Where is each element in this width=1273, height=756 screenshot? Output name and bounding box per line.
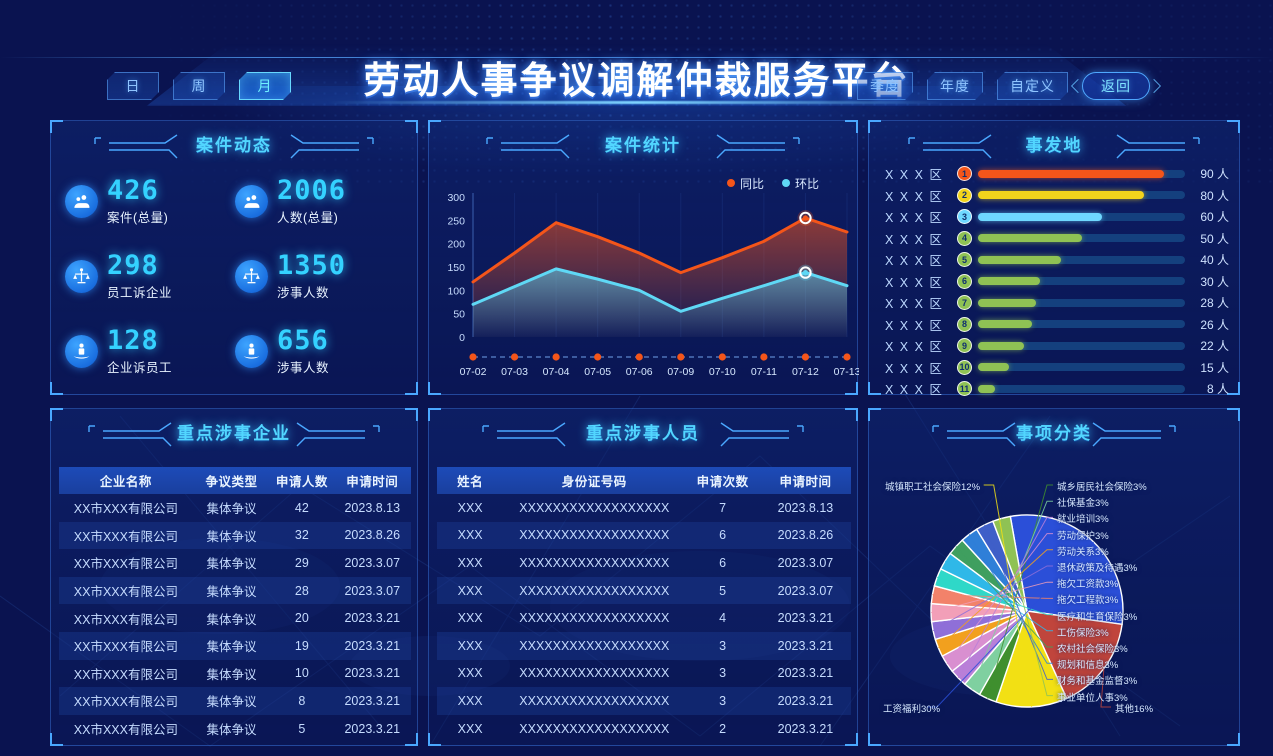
title-decor-left bbox=[93, 135, 179, 161]
svg-text:250: 250 bbox=[447, 215, 465, 227]
category-breakdown-panel: 事项分类 城乡居民社会保险3%社保基金3%就业培训3%劳动保护3%劳动关系3%退… bbox=[868, 408, 1240, 746]
rank-region-label: X X X 区 bbox=[885, 336, 957, 355]
svg-text:07-03: 07-03 bbox=[501, 366, 528, 378]
rank-bar-fill bbox=[978, 385, 995, 393]
rank-badge: 2 bbox=[957, 188, 972, 203]
svg-text:07-09: 07-09 bbox=[667, 366, 694, 378]
svg-text:200: 200 bbox=[447, 239, 465, 251]
rank-badge: 10 bbox=[957, 360, 972, 375]
pie-label: 劳动保护3% bbox=[1057, 528, 1109, 542]
incident-location-list: X X X 区190 人X X X 区280 人X X X 区360 人X X … bbox=[885, 163, 1229, 400]
table-row[interactable]: XXXXXXXXXXXXXXXXXXXXX32023.3.21 bbox=[437, 632, 851, 660]
rank-value: 28 人 bbox=[1185, 294, 1229, 311]
table-row[interactable]: XX市XXX有限公司集体争议322023.8.26 bbox=[59, 522, 411, 550]
table-row[interactable]: XXXXXXXXXXXXXXXXXXXXX62023.3.07 bbox=[437, 549, 851, 577]
pie-label: 其他16% bbox=[1115, 701, 1153, 715]
pie-label: 城乡居民社会保险3% bbox=[1057, 479, 1147, 493]
case-dynamics-panel: 案件动态 426 案件(总量) 2006 人数(总量) bbox=[50, 120, 418, 395]
rank-badge: 4 bbox=[957, 231, 972, 246]
table-row[interactable]: XX市XXX有限公司集体争议292023.3.07 bbox=[59, 549, 411, 577]
table-header-row: 企业名称争议类型申请人数申请时间 bbox=[59, 467, 411, 494]
pie-label: 农村社会保险3% bbox=[1057, 641, 1128, 655]
rank-bar-fill bbox=[978, 234, 1082, 242]
table-cell: 2 bbox=[685, 715, 760, 743]
rank-bar-fill bbox=[978, 299, 1036, 307]
table-cell: XX市XXX有限公司 bbox=[59, 660, 193, 688]
pie-label: 退休政策及待遇3% bbox=[1057, 560, 1137, 574]
kpi-label: 案件(总量) bbox=[107, 207, 168, 226]
table-row[interactable]: XXXXXXXXXXXXXXXXXXXXX62023.8.26 bbox=[437, 522, 851, 550]
rank-value: 90 人 bbox=[1185, 165, 1229, 182]
key-companies-table[interactable]: 企业名称争议类型申请人数申请时间 XX市XXX有限公司集体争议422023.8.… bbox=[59, 467, 411, 742]
kpi-label: 人数(总量) bbox=[277, 207, 346, 226]
table-cell: 集体争议 bbox=[193, 577, 270, 605]
pie-label: 工伤保险3% bbox=[1057, 625, 1109, 639]
table-cell: XXX bbox=[437, 549, 503, 577]
rank-row[interactable]: X X X 区728 人 bbox=[885, 292, 1229, 314]
kpi-total-cases[interactable]: 426 案件(总量) bbox=[65, 177, 235, 226]
table-column-header: 身份证号码 bbox=[503, 467, 685, 494]
incident-location-panel: 事发地 X X X 区190 人X X X 区280 人X X X 区360 人… bbox=[868, 120, 1240, 395]
svg-text:07-13: 07-13 bbox=[834, 366, 859, 378]
tab-day[interactable]: 日 bbox=[107, 72, 159, 100]
table-cell: 2023.8.13 bbox=[334, 494, 411, 522]
table-cell: 2023.8.26 bbox=[334, 522, 411, 550]
back-button-wrap: 返回 bbox=[1082, 72, 1150, 100]
rank-row[interactable]: X X X 区826 人 bbox=[885, 314, 1229, 336]
table-cell: 6 bbox=[685, 549, 760, 577]
svg-text:300: 300 bbox=[447, 192, 465, 204]
kpi-label: 员工诉企业 bbox=[107, 282, 172, 301]
table-cell: XXXXXXXXXXXXXXXXXX bbox=[503, 577, 685, 605]
rank-row[interactable]: X X X 区630 人 bbox=[885, 271, 1229, 293]
title-decor-right bbox=[715, 135, 801, 161]
title-decor-left bbox=[907, 135, 993, 161]
period-tabs-right: 季度 年度 自定义 返回 bbox=[857, 72, 1150, 100]
kpi-value: 426 bbox=[107, 177, 168, 204]
kpi-grid: 426 案件(总量) 2006 人数(总量) 298 员工诉企业 bbox=[65, 177, 405, 376]
kpi-value: 298 bbox=[107, 252, 172, 279]
table-row[interactable]: XXXXXXXXXXXXXXXXXXXXX52023.3.07 bbox=[437, 577, 851, 605]
rank-bar-track bbox=[978, 299, 1185, 307]
table-cell: XXXXXXXXXXXXXXXXXX bbox=[503, 632, 685, 660]
table-cell: XXX bbox=[437, 522, 503, 550]
table-cell: XXX bbox=[437, 715, 503, 743]
line-chart[interactable]: 05010015020025030007-0207-0307-0407-0507… bbox=[429, 161, 859, 393]
table-cell: XXX bbox=[437, 687, 503, 715]
table-row[interactable]: XX市XXX有限公司集体争议282023.3.07 bbox=[59, 577, 411, 605]
title-decor-left bbox=[87, 423, 173, 449]
rank-value: 50 人 bbox=[1185, 230, 1229, 247]
table-cell: XXXXXXXXXXXXXXXXXX bbox=[503, 660, 685, 688]
table-body: XX市XXX有限公司集体争议422023.8.13XX市XXX有限公司集体争议3… bbox=[59, 494, 411, 742]
rank-bar-track bbox=[978, 277, 1185, 285]
table-row[interactable]: XX市XXX有限公司集体争议192023.3.21 bbox=[59, 632, 411, 660]
rank-region-label: X X X 区 bbox=[885, 250, 957, 269]
title-decor-left bbox=[481, 423, 567, 449]
rank-row[interactable]: X X X 区280 人 bbox=[885, 185, 1229, 207]
rank-bar-fill bbox=[978, 170, 1164, 178]
table-cell: 2023.3.21 bbox=[334, 715, 411, 743]
table-cell: XX市XXX有限公司 bbox=[59, 522, 193, 550]
key-persons-panel: 重点涉事人员 姓名身份证号码申请次数申请时间 XXXXXXXXXXXXXXXXX… bbox=[428, 408, 858, 746]
rank-row[interactable]: X X X 区922 人 bbox=[885, 335, 1229, 357]
table-cell: 4 bbox=[685, 604, 760, 632]
rank-row[interactable]: X X X 区1015 人 bbox=[885, 357, 1229, 379]
table-cell: XX市XXX有限公司 bbox=[59, 632, 193, 660]
rank-region-label: X X X 区 bbox=[885, 164, 957, 183]
table-body: XXXXXXXXXXXXXXXXXXXXX72023.8.13XXXXXXXXX… bbox=[437, 494, 851, 742]
kpi-label: 企业诉员工 bbox=[107, 357, 172, 376]
rank-bar-fill bbox=[978, 213, 1102, 221]
title-decor-right bbox=[289, 135, 375, 161]
table-column-header: 申请人数 bbox=[270, 467, 333, 494]
rank-region-label: X X X 区 bbox=[885, 207, 957, 226]
rank-value: 80 人 bbox=[1185, 187, 1229, 204]
back-button[interactable]: 返回 bbox=[1082, 72, 1150, 100]
title-underline bbox=[327, 101, 947, 104]
rank-bar-fill bbox=[978, 256, 1061, 264]
kpi-value: 1350 bbox=[277, 252, 346, 279]
svg-text:0: 0 bbox=[459, 332, 465, 344]
title-decor-right bbox=[1115, 135, 1201, 161]
rank-bar-track bbox=[978, 213, 1185, 221]
table-cell: 集体争议 bbox=[193, 549, 270, 577]
table-cell: 2023.3.21 bbox=[760, 687, 851, 715]
table-cell: 2023.3.21 bbox=[760, 604, 851, 632]
table-cell: 29 bbox=[270, 549, 333, 577]
table-cell: 集体争议 bbox=[193, 522, 270, 550]
rank-row[interactable]: X X X 区118 人 bbox=[885, 378, 1229, 400]
table-cell: XX市XXX有限公司 bbox=[59, 715, 193, 743]
scales-icon bbox=[235, 260, 268, 293]
rank-bar-track bbox=[978, 320, 1185, 328]
title-decor-right bbox=[719, 423, 805, 449]
table-cell: 7 bbox=[685, 494, 760, 522]
pie-label: 工资福利30% bbox=[883, 701, 940, 715]
table-cell: 28 bbox=[270, 577, 333, 605]
rank-row[interactable]: X X X 区190 人 bbox=[885, 163, 1229, 185]
rank-value: 60 人 bbox=[1185, 208, 1229, 225]
rank-row[interactable]: X X X 区540 人 bbox=[885, 249, 1229, 271]
key-persons-table[interactable]: 姓名身份证号码申请次数申请时间 XXXXXXXXXXXXXXXXXXXXX720… bbox=[437, 467, 851, 742]
table-column-header: 申请时间 bbox=[334, 467, 411, 494]
people-group-icon bbox=[65, 185, 98, 218]
table-cell: 20 bbox=[270, 604, 333, 632]
table-cell: 集体争议 bbox=[193, 494, 270, 522]
kpi-value: 128 bbox=[107, 327, 172, 354]
rank-region-label: X X X 区 bbox=[885, 293, 957, 312]
rank-region-label: X X X 区 bbox=[885, 272, 957, 291]
rank-badge: 8 bbox=[957, 317, 972, 332]
table-cell: XXXXXXXXXXXXXXXXXX bbox=[503, 715, 685, 743]
table-cell: 2023.8.26 bbox=[760, 522, 851, 550]
table-cell: 3 bbox=[685, 632, 760, 660]
svg-text:07-12: 07-12 bbox=[792, 366, 819, 378]
pie-label: 社保基金3% bbox=[1057, 495, 1109, 509]
table-cell: 2023.3.21 bbox=[334, 687, 411, 715]
person-icon bbox=[65, 335, 98, 368]
case-statistics-panel: 案件统计 同比 环比 05010015020025030007-0207-030… bbox=[428, 120, 858, 395]
tab-year[interactable]: 年度 bbox=[927, 72, 983, 100]
table-row[interactable]: XX市XXX有限公司集体争议82023.3.21 bbox=[59, 687, 411, 715]
pie-label: 拖欠工资款3% bbox=[1057, 576, 1118, 590]
kpi-involved-people-1[interactable]: 1350 涉事人数 bbox=[235, 252, 405, 301]
kpi-employee-sues-company[interactable]: 298 员工诉企业 bbox=[65, 252, 235, 301]
table-row[interactable]: XXXXXXXXXXXXXXXXXXXXX22023.3.21 bbox=[437, 715, 851, 743]
kpi-total-people[interactable]: 2006 人数(总量) bbox=[235, 177, 405, 226]
rank-bar-track bbox=[978, 170, 1185, 178]
table-cell: XXXXXXXXXXXXXXXXXX bbox=[503, 687, 685, 715]
table-cell: XXXXXXXXXXXXXXXXXX bbox=[503, 549, 685, 577]
kpi-value: 2006 bbox=[277, 177, 346, 204]
person-icon bbox=[235, 335, 268, 368]
header: 劳动人事争议调解仲裁服务平台 日 周 月 季度 年度 自定义 返回 bbox=[0, 0, 1273, 112]
rank-bar-track bbox=[978, 234, 1185, 242]
title-decor-right bbox=[295, 423, 381, 449]
tab-month[interactable]: 月 bbox=[239, 72, 291, 100]
rank-region-label: X X X 区 bbox=[885, 358, 957, 377]
svg-text:07-06: 07-06 bbox=[626, 366, 653, 378]
rank-bar-fill bbox=[978, 191, 1144, 199]
table-cell: XXX bbox=[437, 632, 503, 660]
table-cell: 集体争议 bbox=[193, 604, 270, 632]
table-cell: 2023.3.21 bbox=[760, 632, 851, 660]
table-cell: 2023.3.21 bbox=[334, 660, 411, 688]
table-cell: XX市XXX有限公司 bbox=[59, 549, 193, 577]
pie-label: 劳动关系3% bbox=[1057, 544, 1109, 558]
rank-bar-track bbox=[978, 191, 1185, 199]
people-group-icon bbox=[235, 185, 268, 218]
table-row[interactable]: XX市XXX有限公司集体争议52023.3.21 bbox=[59, 715, 411, 743]
table-column-header: 申请时间 bbox=[760, 467, 851, 494]
key-companies-panel: 重点涉事企业 企业名称争议类型申请人数申请时间 XX市XXX有限公司集体争议42… bbox=[50, 408, 418, 746]
table-cell: 10 bbox=[270, 660, 333, 688]
rank-badge: 3 bbox=[957, 209, 972, 224]
pie-label: 城镇职工社会保险12% bbox=[885, 479, 980, 493]
table-cell: 3 bbox=[685, 660, 760, 688]
rank-bar-track bbox=[978, 256, 1185, 264]
table-cell: XXX bbox=[437, 604, 503, 632]
table-column-header: 姓名 bbox=[437, 467, 503, 494]
table-cell: 6 bbox=[685, 522, 760, 550]
table-row[interactable]: XX市XXX有限公司集体争议102023.3.21 bbox=[59, 660, 411, 688]
table-cell: XX市XXX有限公司 bbox=[59, 494, 193, 522]
rank-badge: 6 bbox=[957, 274, 972, 289]
table-cell: 2023.3.21 bbox=[334, 632, 411, 660]
table-cell: 2023.3.21 bbox=[760, 660, 851, 688]
table-cell: 2023.3.07 bbox=[334, 549, 411, 577]
table-cell: XXXXXXXXXXXXXXXXXX bbox=[503, 494, 685, 522]
table-cell: 42 bbox=[270, 494, 333, 522]
kpi-company-sues-employee[interactable]: 128 企业诉员工 bbox=[65, 327, 235, 376]
table-cell: XXXXXXXXXXXXXXXXXX bbox=[503, 522, 685, 550]
svg-text:150: 150 bbox=[447, 262, 465, 274]
pie-label: 医疗和生育保险3% bbox=[1057, 609, 1137, 623]
svg-text:07-05: 07-05 bbox=[584, 366, 611, 378]
table-cell: 集体争议 bbox=[193, 687, 270, 715]
table-cell: 集体争议 bbox=[193, 715, 270, 743]
pie-label: 就业培训3% bbox=[1057, 511, 1109, 525]
table-cell: XXX bbox=[437, 577, 503, 605]
pie-chart-container: 城乡居民社会保险3%社保基金3%就业培训3%劳动保护3%劳动关系3%退休政策及待… bbox=[869, 439, 1241, 747]
rank-bar-fill bbox=[978, 277, 1040, 285]
rank-region-label: X X X 区 bbox=[885, 315, 957, 334]
tab-quarter[interactable]: 季度 bbox=[857, 72, 913, 100]
table-cell: 2023.3.21 bbox=[760, 715, 851, 743]
rank-value: 22 人 bbox=[1185, 337, 1229, 354]
table-cell: XX市XXX有限公司 bbox=[59, 604, 193, 632]
table-row[interactable]: XXXXXXXXXXXXXXXXXXXXX32023.3.21 bbox=[437, 660, 851, 688]
table-row[interactable]: XX市XXX有限公司集体争议422023.8.13 bbox=[59, 494, 411, 522]
tab-week[interactable]: 周 bbox=[173, 72, 225, 100]
rank-bar-track bbox=[978, 385, 1185, 393]
rank-bar-track bbox=[978, 363, 1185, 371]
table-cell: 8 bbox=[270, 687, 333, 715]
table-cell: 2023.3.07 bbox=[760, 549, 851, 577]
table-row[interactable]: XXXXXXXXXXXXXXXXXXXXX32023.3.21 bbox=[437, 687, 851, 715]
rank-region-label: X X X 区 bbox=[885, 379, 957, 398]
svg-text:07-02: 07-02 bbox=[460, 366, 487, 378]
table-column-header: 申请次数 bbox=[685, 467, 760, 494]
tab-custom[interactable]: 自定义 bbox=[997, 72, 1068, 100]
pie-label: 拖欠工程款3% bbox=[1057, 592, 1118, 606]
table-header-row: 姓名身份证号码申请次数申请时间 bbox=[437, 467, 851, 494]
rank-bar-fill bbox=[978, 342, 1024, 350]
table-row[interactable]: XX市XXX有限公司集体争议202023.3.21 bbox=[59, 604, 411, 632]
rank-bar-track bbox=[978, 342, 1185, 350]
rank-value: 15 人 bbox=[1185, 359, 1229, 376]
kpi-label: 涉事人数 bbox=[277, 282, 346, 301]
table-column-header: 争议类型 bbox=[193, 467, 270, 494]
rank-badge: 7 bbox=[957, 295, 972, 310]
svg-text:07-11: 07-11 bbox=[751, 366, 777, 378]
rank-bar-fill bbox=[978, 363, 1009, 371]
table-cell: 5 bbox=[685, 577, 760, 605]
rank-badge: 9 bbox=[957, 338, 972, 353]
svg-text:50: 50 bbox=[453, 309, 465, 321]
rank-region-label: X X X 区 bbox=[885, 229, 957, 248]
table-cell: 5 bbox=[270, 715, 333, 743]
table-cell: 3 bbox=[685, 687, 760, 715]
table-column-header: 企业名称 bbox=[59, 467, 193, 494]
rank-value: 8 人 bbox=[1185, 380, 1229, 397]
kpi-involved-people-2[interactable]: 656 涉事人数 bbox=[235, 327, 405, 376]
pie-label: 规划和信息3% bbox=[1057, 657, 1118, 671]
rank-row[interactable]: X X X 区450 人 bbox=[885, 228, 1229, 250]
table-cell: 2023.3.07 bbox=[334, 577, 411, 605]
table-cell: 32 bbox=[270, 522, 333, 550]
kpi-label: 涉事人数 bbox=[277, 357, 329, 376]
rank-badge: 11 bbox=[957, 381, 972, 396]
rank-row[interactable]: X X X 区360 人 bbox=[885, 206, 1229, 228]
svg-text:100: 100 bbox=[447, 285, 465, 297]
table-cell: XXX bbox=[437, 494, 503, 522]
scales-icon bbox=[65, 260, 98, 293]
table-cell: 2023.8.13 bbox=[760, 494, 851, 522]
table-row[interactable]: XXXXXXXXXXXXXXXXXXXXX42023.3.21 bbox=[437, 604, 851, 632]
table-cell: 2023.3.07 bbox=[760, 577, 851, 605]
table-cell: 2023.3.21 bbox=[334, 604, 411, 632]
svg-text:07-04: 07-04 bbox=[543, 366, 570, 378]
rank-value: 30 人 bbox=[1185, 273, 1229, 290]
table-cell: 19 bbox=[270, 632, 333, 660]
rank-bar-fill bbox=[978, 320, 1032, 328]
table-cell: XX市XXX有限公司 bbox=[59, 687, 193, 715]
title-decor-left bbox=[485, 135, 571, 161]
table-row[interactable]: XXXXXXXXXXXXXXXXXXXXX72023.8.13 bbox=[437, 494, 851, 522]
svg-text:07-10: 07-10 bbox=[709, 366, 736, 378]
rank-value: 26 人 bbox=[1185, 316, 1229, 333]
period-tabs-left: 日 周 月 bbox=[107, 72, 291, 100]
pie-label: 财务和基金监督3% bbox=[1057, 673, 1137, 687]
table-cell: 集体争议 bbox=[193, 632, 270, 660]
rank-region-label: X X X 区 bbox=[885, 186, 957, 205]
rank-badge: 1 bbox=[957, 166, 972, 181]
rank-value: 40 人 bbox=[1185, 251, 1229, 268]
kpi-value: 656 bbox=[277, 327, 329, 354]
table-cell: XX市XXX有限公司 bbox=[59, 577, 193, 605]
table-cell: XXXXXXXXXXXXXXXXXX bbox=[503, 604, 685, 632]
table-cell: 集体争议 bbox=[193, 660, 270, 688]
table-cell: XXX bbox=[437, 660, 503, 688]
rank-badge: 5 bbox=[957, 252, 972, 267]
